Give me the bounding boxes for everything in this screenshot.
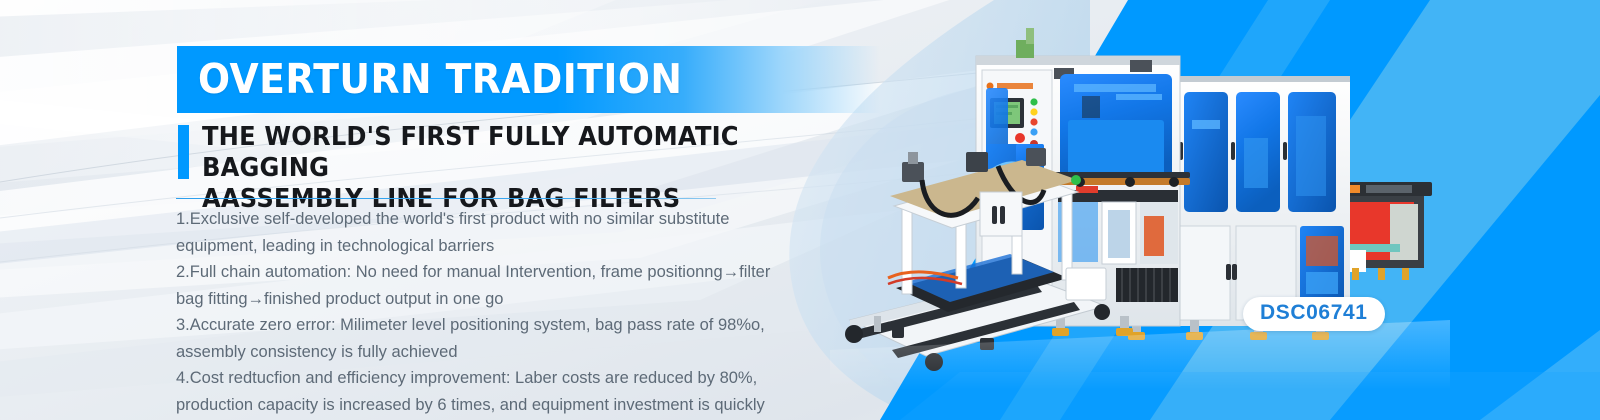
feature-list: 1.Exclusive self-developed the world's f…: [176, 206, 798, 420]
promo-banner: OVERTURN TRADITION THE WORLD'S FIRST FUL…: [0, 0, 1600, 420]
text-column: OVERTURN TRADITION THE WORLD'S FIRST FUL…: [0, 0, 820, 420]
feature-item-4: 4.Cost redtucfion and efficiency improve…: [176, 365, 798, 420]
feature-item-3: 3.Accurate zero error: Milimeter level p…: [176, 312, 798, 365]
subhead-accent-bar: [178, 125, 189, 179]
divider-rule: [176, 198, 716, 199]
subhead-line-1: THE WORLD'S FIRST FULLY AUTOMATIC BAGGIN…: [202, 122, 739, 183]
page-title: OVERTURN TRADITION: [198, 50, 682, 108]
photo-id-badge: DSC06741: [1243, 297, 1385, 331]
machine-photo: [830, 20, 1450, 390]
feature-item-1: 1.Exclusive self-developed the world's f…: [176, 206, 798, 259]
subhead: THE WORLD'S FIRST FULLY AUTOMATIC BAGGIN…: [202, 122, 797, 215]
feature-item-2: 2.Full chain automation: No need for man…: [176, 259, 798, 312]
